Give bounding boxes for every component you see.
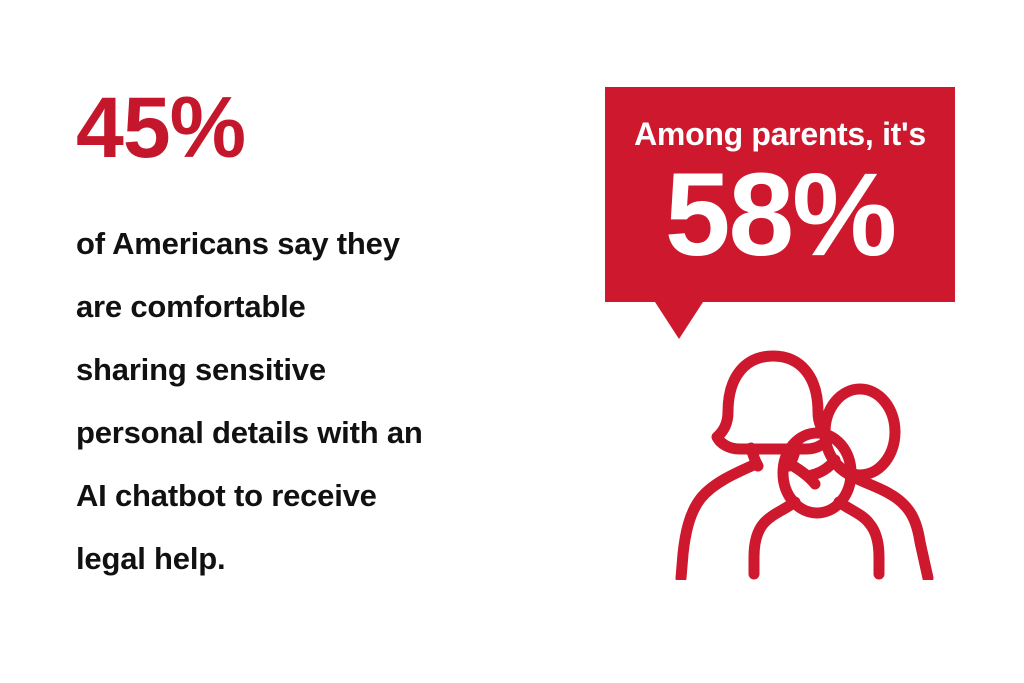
body-copy-line: sharing sensitive bbox=[76, 338, 516, 401]
family-icon bbox=[672, 342, 968, 580]
headline-stat-value: 45% bbox=[76, 88, 516, 170]
body-copy-line: personal details with an bbox=[76, 401, 516, 464]
body-copy-line: of Americans say they bbox=[76, 212, 516, 275]
body-copy: of Americans say they are comfortable sh… bbox=[76, 212, 516, 590]
speech-bubble-tail bbox=[655, 302, 703, 339]
body-copy-line: are comfortable bbox=[76, 275, 516, 338]
callout-box: Among parents, it's 58% bbox=[605, 87, 955, 302]
secondary-statistic-callout: Among parents, it's 58% bbox=[605, 87, 955, 302]
infographic-canvas: 45% of Americans say they are comfortabl… bbox=[0, 0, 1024, 683]
callout-label: Among parents, it's bbox=[605, 117, 955, 152]
family-icon-man bbox=[812, 389, 928, 578]
body-copy-line: AI chatbot to receive bbox=[76, 464, 516, 527]
callout-stat-value: 58% bbox=[605, 156, 955, 274]
body-copy-line: legal help. bbox=[76, 527, 516, 590]
primary-statistic-block: 45% of Americans say they are comfortabl… bbox=[76, 88, 516, 590]
